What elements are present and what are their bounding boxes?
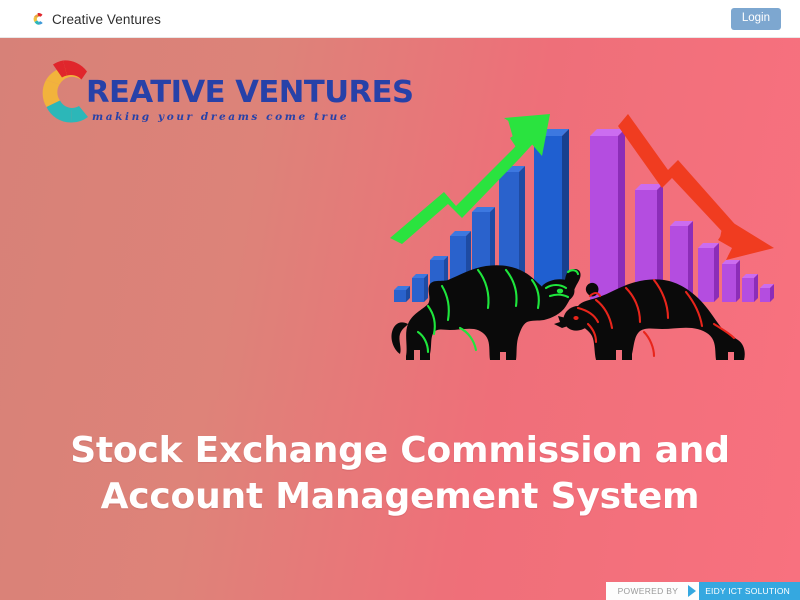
hero-section: REATIVE VENTURES making your dreams come… xyxy=(0,38,800,600)
page-title: Stock Exchange Commission and Account Ma… xyxy=(0,428,800,520)
trend-up-arrow-icon xyxy=(390,114,550,244)
falling-bars-group xyxy=(590,129,774,302)
creative-ventures-logo: REATIVE VENTURES making your dreams come… xyxy=(36,58,366,136)
navbar-brand[interactable]: Creative Ventures xyxy=(32,0,161,38)
logo-wordmark: REATIVE VENTURES xyxy=(86,78,414,108)
page-root: Creative Ventures Login xyxy=(0,0,800,600)
navbar-brand-label: Creative Ventures xyxy=(52,12,161,27)
logo-tagline: making your dreams come true xyxy=(92,111,349,123)
top-navbar: Creative Ventures Login xyxy=(0,0,800,38)
bull-vs-bear-stock-market-illustration xyxy=(382,108,782,383)
powered-by-badge[interactable]: POWERED BY EIDY ICT SOLUTION xyxy=(606,582,800,600)
powered-by-arrow-icon xyxy=(687,582,699,600)
page-title-line-1: Stock Exchange Commission and xyxy=(60,428,740,474)
powered-by-label: POWERED BY xyxy=(606,582,688,600)
login-button[interactable]: Login xyxy=(731,8,781,30)
creative-ventures-c-icon xyxy=(32,12,45,26)
hero-banner-image: REATIVE VENTURES making your dreams come… xyxy=(0,38,800,400)
page-title-line-2: Account Management System xyxy=(60,474,740,520)
powered-by-brand-label[interactable]: EIDY ICT SOLUTION xyxy=(699,582,800,600)
